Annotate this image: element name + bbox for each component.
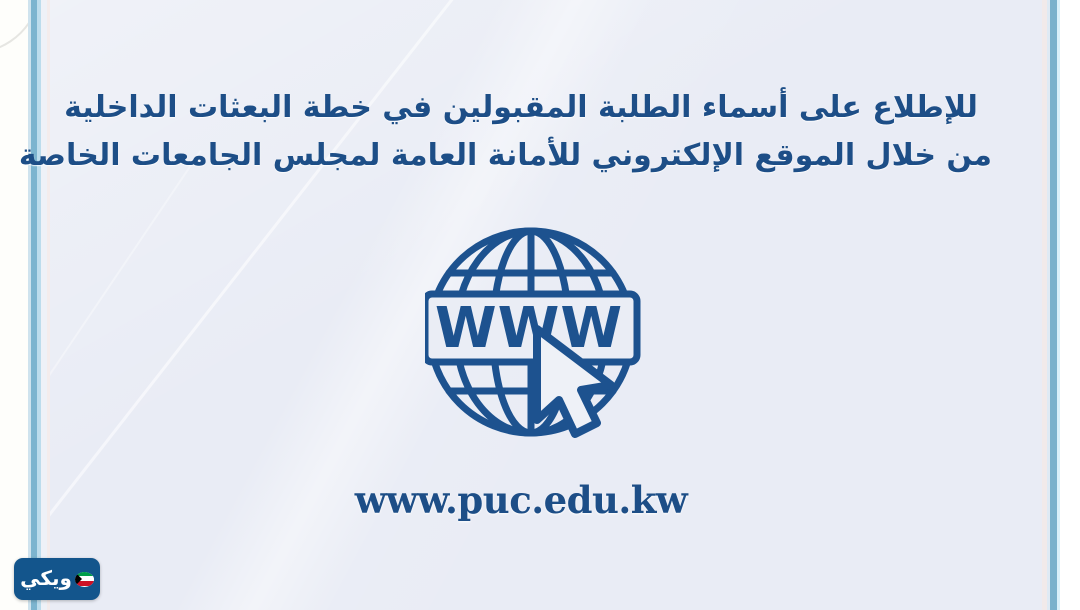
www-globe-cursor-icon: WWW [425, 222, 665, 450]
website-url[interactable]: www.puc.edu.kw [50, 478, 992, 522]
headline-block: للإطلاع على أسماء الطلبة المقبولين في خط… [50, 84, 992, 180]
right-stripe-accent [1050, 0, 1057, 610]
headline-line-2: من خلال الموقع الإلكتروني للأمانة العامة… [50, 132, 992, 180]
headline-line-1: للإطلاع على أسماء الطلبة المقبولين في خط… [50, 84, 992, 132]
diagonal-highlight-2 [50, 150, 202, 610]
kuwait-flag-icon [75, 572, 94, 587]
watermark-label: ويكي [20, 568, 72, 590]
left-margin [0, 0, 28, 610]
right-margin [1058, 0, 1080, 610]
right-stripe-4 [1057, 0, 1060, 610]
wiki-kuwait-badge: ويكي [14, 558, 100, 600]
announcement-graphic: للإطلاع على أسماء الطلبة المقبولين في خط… [0, 0, 1080, 610]
www-banner-text: WWW [435, 296, 623, 361]
